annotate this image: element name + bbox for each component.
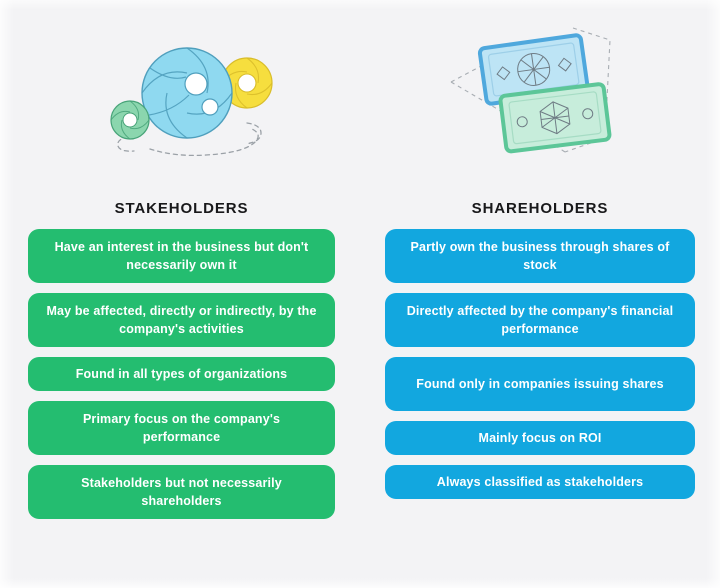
list-item[interactable]: Found only in companies issuing shares bbox=[385, 357, 695, 411]
pill-label: Always classified as stakeholders bbox=[437, 473, 643, 491]
page-title-shareholders: SHAREHOLDERS bbox=[472, 185, 609, 229]
comparison-columns: STAKEHOLDERS Have an interest in the bus… bbox=[0, 0, 720, 588]
column-stakeholders: STAKEHOLDERS Have an interest in the bus… bbox=[0, 0, 360, 588]
infographic-root: STAKEHOLDERS Have an interest in the bus… bbox=[0, 0, 720, 588]
shareholders-pill-list: Partly own the business through shares o… bbox=[385, 229, 695, 499]
list-item[interactable]: Mainly focus on ROI bbox=[385, 421, 695, 455]
list-item[interactable]: Primary focus on the company's performan… bbox=[28, 401, 335, 455]
list-item[interactable]: Partly own the business through shares o… bbox=[385, 229, 695, 283]
pill-label: Found only in companies issuing shares bbox=[416, 375, 663, 393]
pill-label: Found in all types of organizations bbox=[76, 365, 288, 383]
list-item[interactable]: May be affected, directly or indirectly,… bbox=[28, 293, 335, 347]
small-aperture-circle bbox=[111, 101, 149, 139]
list-item[interactable]: Found in all types of organizations bbox=[28, 357, 335, 391]
pill-label: Partly own the business through shares o… bbox=[401, 238, 679, 274]
pill-label: Primary focus on the company's performan… bbox=[44, 410, 319, 446]
banknotes-illustration bbox=[385, 0, 695, 185]
pill-label: Stakeholders but not necessarily shareho… bbox=[44, 474, 319, 510]
pill-label: Directly affected by the company's finan… bbox=[401, 302, 679, 338]
list-item[interactable]: Directly affected by the company's finan… bbox=[385, 293, 695, 347]
green-banknote bbox=[500, 84, 610, 152]
page-title-stakeholders: STAKEHOLDERS bbox=[115, 185, 249, 229]
pill-label: Have an interest in the business but don… bbox=[44, 238, 319, 274]
aperture-circles-illustration bbox=[28, 0, 335, 185]
pill-label: Mainly focus on ROI bbox=[479, 429, 602, 447]
list-item[interactable]: Always classified as stakeholders bbox=[385, 465, 695, 499]
list-item[interactable]: Stakeholders but not necessarily shareho… bbox=[28, 465, 335, 519]
stakeholders-pill-list: Have an interest in the business but don… bbox=[28, 229, 335, 519]
pill-label: May be affected, directly or indirectly,… bbox=[44, 302, 319, 338]
column-shareholders: SHAREHOLDERS Partly own the business thr… bbox=[360, 0, 720, 588]
large-aperture-circle bbox=[142, 48, 232, 138]
list-item[interactable]: Have an interest in the business but don… bbox=[28, 229, 335, 283]
